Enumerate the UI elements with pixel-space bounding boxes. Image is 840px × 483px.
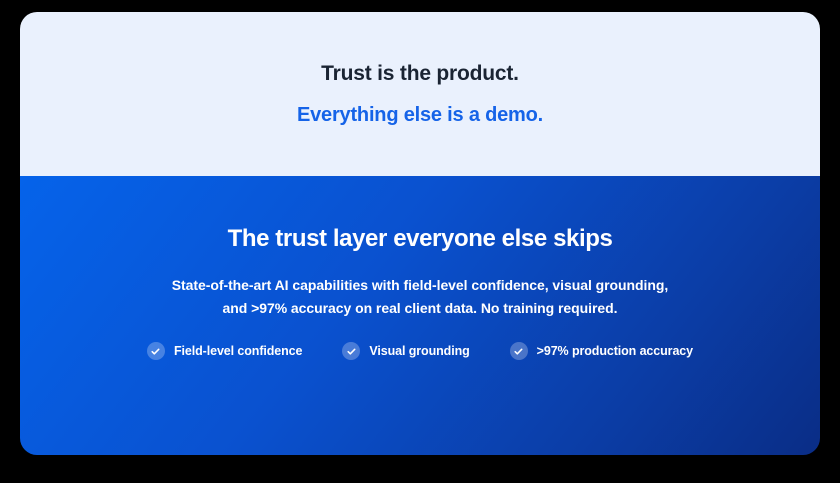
hero-headline: Trust is the product. [321,63,519,84]
hero-top-band: Trust is the product. Everything else is… [20,12,820,176]
feature-badge-row: Field-level confidence Visual grounding [147,342,693,360]
check-circle-icon [342,342,360,360]
section-title: The trust layer everyone else skips [228,227,613,251]
feature-badge-label: Field-level confidence [174,345,302,358]
hero-card: Trust is the product. Everything else is… [20,12,820,455]
page-root: Trust is the product. Everything else is… [0,0,840,483]
feature-badge: >97% production accuracy [510,342,693,360]
check-circle-icon [147,342,165,360]
feature-badge-label: >97% production accuracy [537,345,693,358]
feature-badge: Field-level confidence [147,342,302,360]
hero-bottom-band: The trust layer everyone else skips Stat… [20,176,820,455]
hero-subheadline: Everything else is a demo. [297,105,543,125]
check-circle-icon [510,342,528,360]
feature-badge-label: Visual grounding [369,345,469,358]
feature-badge: Visual grounding [342,342,469,360]
section-description: State-of-the-art AI capabilities with fi… [170,274,670,320]
